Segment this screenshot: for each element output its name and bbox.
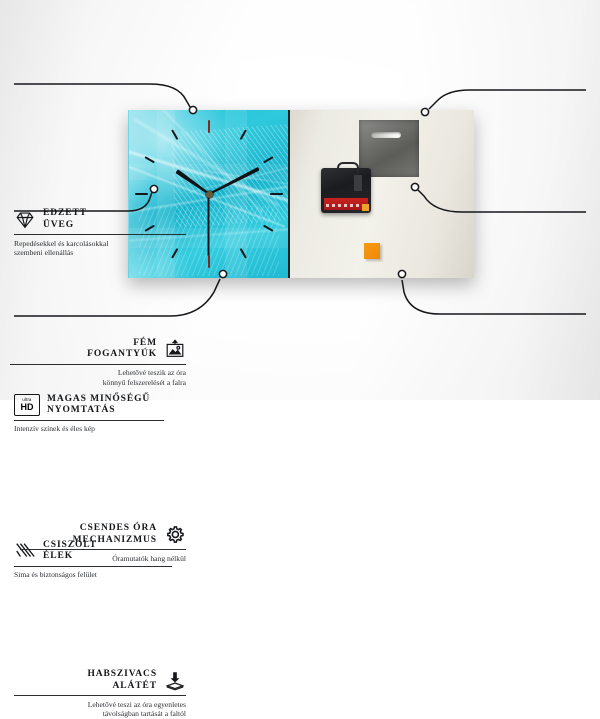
clock-tick [263,156,274,163]
callout-title-line1: HABSZIVACS [87,669,157,681]
callout-subtitle: Repedésekkel és karcolásokkal szembeni e… [14,239,210,258]
callout-subtitle: Lehetővé teszi az óra egyenletes távolsá… [0,700,186,719]
clock-minute-hand [208,167,260,196]
ultra-hd-small-text: ultra [22,398,31,402]
clock-center-cap [206,191,213,198]
clock-tick [171,129,178,140]
callout-header: CSENDES ÓRA MECHANIZMUS [0,523,186,546]
callout-divider [14,420,164,421]
clock-tick [263,225,274,232]
callout-metal-hangers: FÉM FOGANTYÚK Lehetővé teszik az óra kön… [0,338,186,388]
mechanism-hook [337,162,359,174]
callout-subtitle-line1: Óramutatók hang nélkül [0,554,186,564]
callout-header: FÉM FOGANTYÚK [0,338,186,361]
clock-mechanism [321,168,371,213]
callout-title: FÉM FOGANTYÚK [87,338,157,361]
callout-silent-mechanism: CSENDES ÓRA MECHANIZMUS Óramutatók hang … [0,523,186,563]
gear-icon [164,524,186,546]
foam-pad [364,243,380,259]
callout-foam-backing: HABSZIVACS ALÁTÉT Lehetővé teszi az óra … [0,669,186,719]
clock-tick [270,193,283,195]
callout-tempered-glass: EDZETT ÜVEG Repedésekkel és karcolásokka… [14,208,210,258]
callout-divider [14,695,186,696]
callout-subtitle: Sima és biztonságos felület [14,570,210,580]
foam-pad-icon [164,670,186,692]
callout-title-line1: CSENDES ÓRA [73,523,157,535]
callout-subtitle: Intenzív színek és éles kép [14,424,210,434]
hanging-picture-icon [164,338,186,360]
callout-divider [14,234,186,235]
callout-title-line2: ALÁTÉT [87,681,157,693]
clock-tick [240,129,247,140]
callout-title: MAGAS MINŐSÉGŰ NYOMTATÁS [47,394,150,417]
clock-tick [135,193,148,195]
callout-title-line2: ÜVEG [43,220,87,232]
clock-hour-hand [175,169,210,196]
mechanism-shaft [354,175,362,191]
callout-title-line2: NYOMTATÁS [47,405,150,417]
ultra-hd-large-text: HD [21,403,34,412]
ultra-hd-icon: ultra HD [14,394,40,416]
callout-header: ultra HD MAGAS MINŐSÉGŰ NYOMTATÁS [14,394,210,417]
clock-tick [240,248,247,259]
callout-title-line1: EDZETT [43,208,87,220]
callout-subtitle-line2: távolságban tartását a faltól [0,709,186,719]
callout-subtitle-line1: Sima és biztonságos felület [14,570,210,580]
callout-subtitle: Lehetővé teszik az óra könnyű felszerelé… [0,368,186,387]
callout-subtitle: Óramutatók hang nélkül [0,554,186,564]
clock-tick [208,120,210,133]
clock-back-panel [288,110,474,278]
callout-title: HABSZIVACS ALÁTÉT [87,669,157,692]
callout-title: CSENDES ÓRA MECHANIZMUS [73,523,157,546]
callout-title-line2: MECHANIZMUS [73,535,157,547]
callout-subtitle-line2: könnyű felszerelését a falra [0,378,186,388]
callout-subtitle-line2: szembeni ellenállás [14,248,210,258]
diamond-icon [14,209,36,231]
callout-title-line1: FÉM [87,338,157,350]
callout-title-line1: MAGAS MINŐSÉGŰ [47,394,150,406]
hanger-slot [371,132,401,138]
callout-subtitle-line1: Lehetővé teszi az óra egyenletes [0,700,186,710]
callout-divider [20,549,186,550]
clock-tick [144,156,155,163]
battery-terminal [362,204,369,211]
callout-subtitle-line1: Repedésekkel és karcolásokkal [14,239,210,249]
callout-header: HABSZIVACS ALÁTÉT [0,669,186,692]
callout-divider [10,364,186,365]
callout-subtitle-line1: Lehetővé teszik az óra [0,368,186,378]
callout-title-line2: FOGANTYÚK [87,349,157,361]
callout-subtitle-line1: Intenzív színek és éles kép [14,424,210,434]
callout-title: EDZETT ÜVEG [43,208,87,231]
infographic-canvas: EDZETT ÜVEG Repedésekkel és karcolásokka… [0,0,600,400]
callout-header: EDZETT ÜVEG [14,208,210,231]
callout-divider [14,566,172,567]
